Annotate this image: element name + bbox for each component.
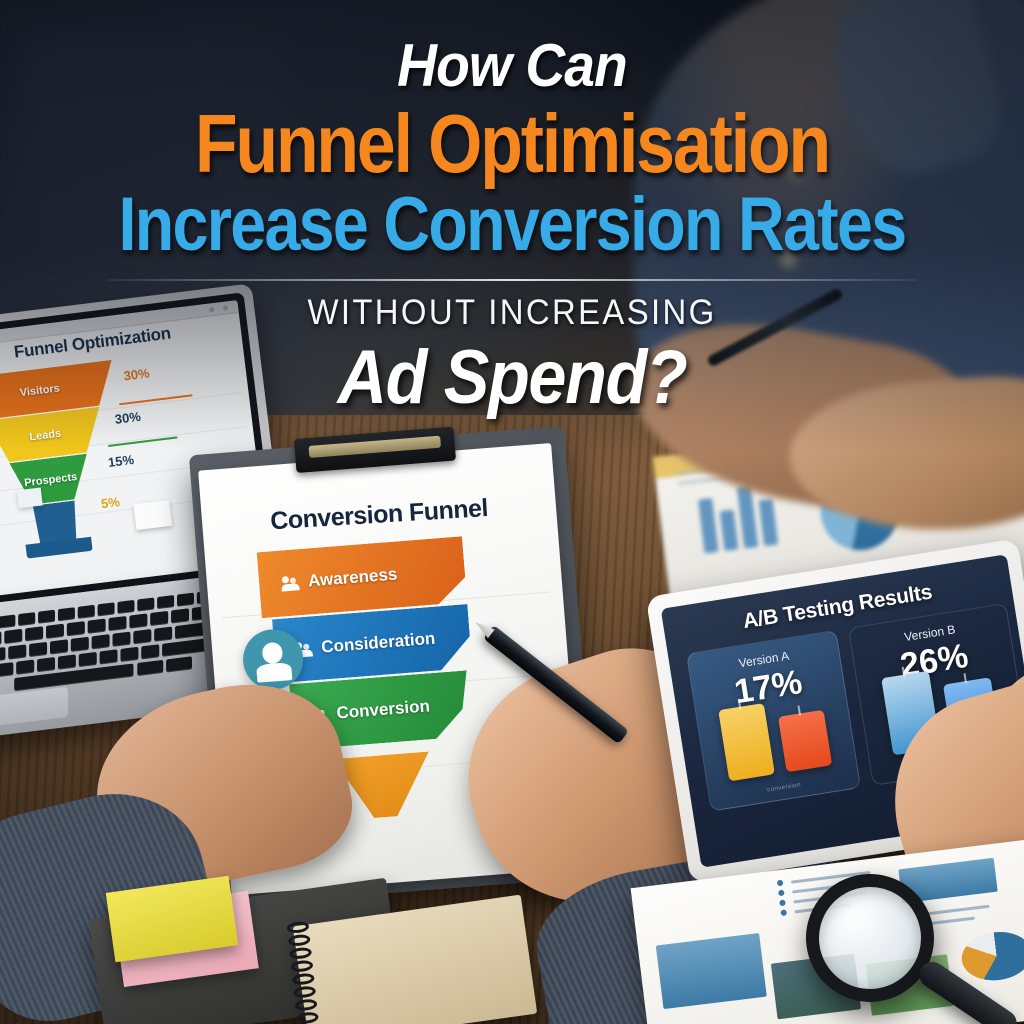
funnel-neck	[25, 537, 92, 559]
funnel-value-prospects: 15%	[107, 452, 135, 470]
funnel-value-customers: 5%	[100, 494, 120, 511]
headline-line-2: Funnel Optimisation	[82, 102, 942, 185]
headline-line-1: How Can	[41, 36, 983, 96]
headline-block: How Can Funnel Optimisation Increase Con…	[0, 0, 1024, 416]
social-graphic: Funnel Optimization Visitors Leads Prosp…	[0, 0, 1024, 1024]
bar-a2	[778, 710, 832, 773]
funnel-stage-awareness: Awareness	[257, 536, 468, 618]
laptop-trackpad[interactable]	[0, 687, 68, 730]
people-icon	[281, 575, 302, 592]
bar-a1	[718, 703, 775, 781]
funnel-stage-label: Consideration	[321, 629, 437, 658]
headline-line-4: WITHOUT INCREASING	[31, 295, 994, 330]
headline-line-5: Ad Spend?	[51, 340, 973, 416]
clipboard-chart-title: Conversion Funnel	[202, 490, 557, 541]
headline-divider	[107, 279, 917, 281]
ab-panel-version-a[interactable]: Version A 17% conversion	[686, 630, 861, 812]
funnel-stage-consideration: Consideration	[272, 604, 472, 683]
headline-line-3: Increase Conversion Rates	[77, 187, 947, 263]
funnel-stage-label: Awareness	[307, 564, 398, 591]
funnel-stage-label: Conversion	[336, 696, 431, 723]
